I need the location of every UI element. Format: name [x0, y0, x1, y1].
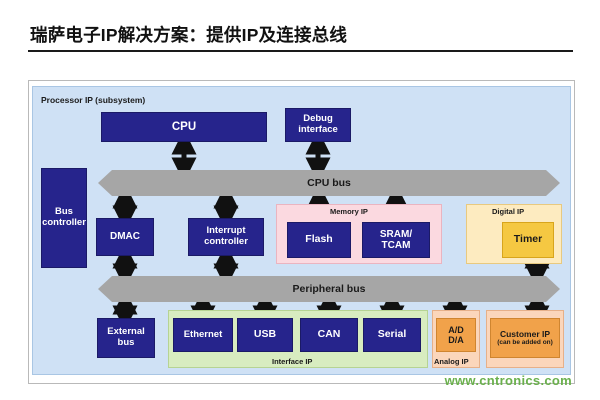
- ethernet-block: Ethernet: [173, 318, 233, 352]
- memory-ip-label: Memory IP: [330, 207, 368, 216]
- cpu-block: CPU: [101, 112, 267, 142]
- cpu-bus: CPU bus: [98, 170, 560, 196]
- interrupt-controller-label: Interrupt controller: [204, 226, 248, 247]
- ad-da-block: A/D D/A: [436, 318, 476, 352]
- analog-ip-label: Analog IP: [434, 357, 469, 366]
- ethernet-label: Ethernet: [184, 330, 223, 341]
- interrupt-controller-block: Interrupt controller: [188, 218, 264, 256]
- page-title: 瑞萨电子IP解决方案：提供IP及连接总线: [30, 22, 347, 47]
- cpu-label: CPU: [172, 121, 196, 134]
- serial-label: Serial: [378, 329, 407, 341]
- dmac-label: DMAC: [110, 231, 140, 242]
- interface-ip-label: Interface IP: [272, 357, 312, 366]
- debug-interface-block: Debug interface: [285, 108, 351, 142]
- serial-block: Serial: [363, 318, 421, 352]
- processor-ip-label: Processor IP (subsystem): [41, 95, 145, 105]
- cpu-bus-label: CPU bus: [307, 177, 351, 189]
- timer-block: Timer: [502, 222, 554, 258]
- flash-block: Flash: [287, 222, 351, 258]
- usb-block: USB: [237, 318, 293, 352]
- customer-ip-block: Customer IP (can be added on): [490, 318, 560, 358]
- ad-da-label: A/D D/A: [448, 325, 464, 345]
- usb-label: USB: [254, 329, 276, 341]
- external-bus-block: External bus: [97, 318, 155, 358]
- slide-root: 瑞萨电子IP解决方案：提供IP及连接总线 Processor IP (subsy…: [0, 0, 600, 400]
- watermark: www.cntronics.com: [445, 373, 572, 388]
- digital-ip-label: Digital IP: [492, 207, 524, 216]
- peripheral-bus-label: Peripheral bus: [293, 283, 366, 295]
- external-bus-label: External bus: [107, 327, 145, 348]
- debug-interface-label: Debug interface: [298, 114, 338, 135]
- flash-label: Flash: [305, 234, 332, 246]
- customer-ip-sublabel: (can be added on): [497, 339, 553, 347]
- title-divider: [28, 50, 573, 52]
- customer-ip-label: Customer IP: [500, 329, 550, 340]
- timer-label: Timer: [514, 234, 542, 246]
- sram-tcam-label: SRAM/ TCAM: [380, 229, 412, 251]
- bus-controller-label: Bus controller: [42, 207, 86, 228]
- bus-controller-block: Bus controller: [41, 168, 87, 268]
- peripheral-bus: Peripheral bus: [98, 276, 560, 302]
- can-label: CAN: [318, 329, 341, 341]
- sram-tcam-block: SRAM/ TCAM: [362, 222, 430, 258]
- dmac-block: DMAC: [96, 218, 154, 256]
- can-block: CAN: [300, 318, 358, 352]
